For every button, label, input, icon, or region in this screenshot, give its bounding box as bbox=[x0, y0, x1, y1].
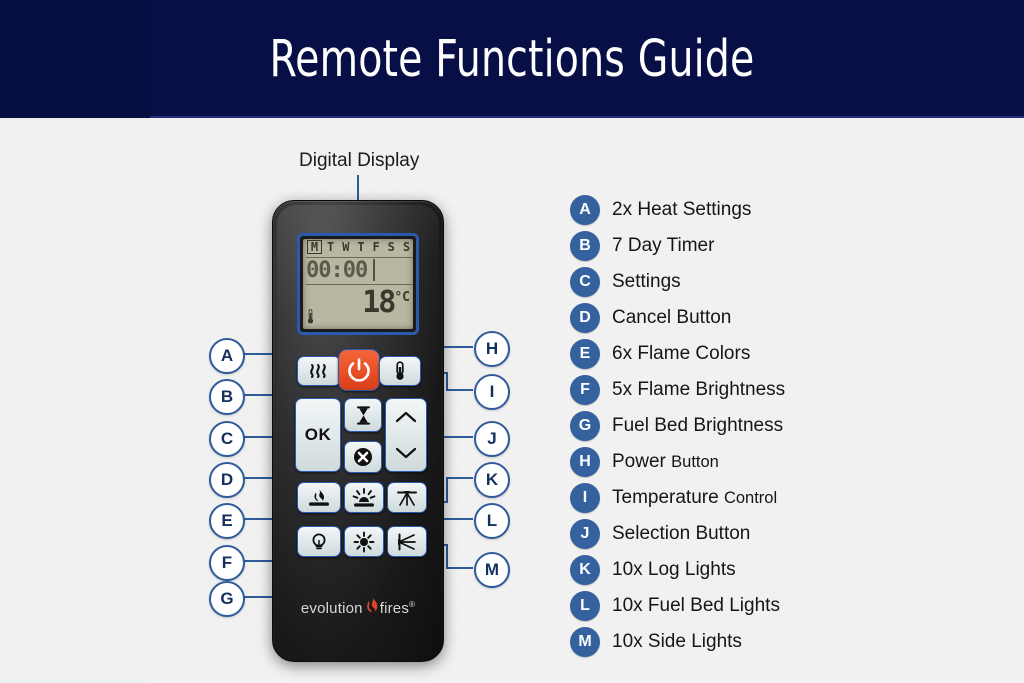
registered-mark: ® bbox=[409, 600, 415, 609]
legend-label-h-sub: Button bbox=[671, 453, 719, 471]
callout-b[interactable]: B bbox=[209, 379, 245, 415]
brand-name-primary: evolution bbox=[301, 600, 363, 617]
lcd-day-sun: S bbox=[400, 240, 413, 254]
fuel-bed-lights-button[interactable] bbox=[344, 526, 384, 557]
legend-badge-m: M bbox=[570, 627, 600, 657]
brand-name-secondary: fires bbox=[380, 600, 409, 617]
lcd-temperature-block: 18°C bbox=[362, 285, 410, 320]
flame-log-icon bbox=[307, 488, 331, 507]
legend-label-b-main: 7 Day Timer bbox=[612, 235, 714, 256]
legend-item-g[interactable]: G Fuel Bed Brightness bbox=[570, 408, 990, 444]
sunburst-icon bbox=[352, 488, 376, 508]
legend-item-k[interactable]: K 10x Log Lights bbox=[570, 552, 990, 588]
legend-item-l[interactable]: L 10x Fuel Bed Lights bbox=[570, 588, 990, 624]
callout-j[interactable]: J bbox=[474, 421, 510, 457]
legend-item-m[interactable]: M 10x Side Lights bbox=[570, 624, 990, 660]
legend-label-h: Power Button bbox=[612, 451, 719, 473]
lcd-day-fri: F bbox=[370, 240, 383, 254]
legend-label-g: Fuel Bed Brightness bbox=[612, 415, 783, 437]
side-lights-button[interactable] bbox=[387, 526, 427, 557]
left-margin-band bbox=[0, 118, 150, 683]
hourglass-icon bbox=[356, 406, 371, 425]
legend-label-a: 2x Heat Settings bbox=[612, 199, 751, 221]
lcd-day-tue: T bbox=[324, 240, 337, 254]
legend-item-c[interactable]: C Settings bbox=[570, 264, 990, 300]
legend-label-k: 10x Log Lights bbox=[612, 559, 736, 581]
callout-g[interactable]: G bbox=[209, 581, 245, 617]
legend-label-a-main: 2x Heat Settings bbox=[612, 199, 751, 220]
callout-a[interactable]: A bbox=[209, 338, 245, 374]
legend-list: A 2x Heat Settings B 7 Day Timer C Setti… bbox=[570, 192, 990, 660]
callout-f[interactable]: F bbox=[209, 545, 245, 581]
legend-label-f: 5x Flame Brightness bbox=[612, 379, 785, 401]
legend-badge-k: K bbox=[570, 555, 600, 585]
lcd-temperature-value: 18 bbox=[362, 285, 394, 320]
lcd-day-thu: T bbox=[354, 240, 367, 254]
callout-c[interactable]: C bbox=[209, 421, 245, 457]
page-header: Remote Functions Guide bbox=[0, 0, 1024, 118]
side-light-icon bbox=[395, 532, 419, 552]
legend-badge-d: D bbox=[570, 303, 600, 333]
lcd-day-wed: W bbox=[339, 240, 352, 254]
lcd-weekday-row: M T W T F S S bbox=[307, 240, 413, 254]
legend-label-e: 6x Flame Colors bbox=[612, 343, 750, 365]
legend-label-m-main: 10x Side Lights bbox=[612, 631, 742, 652]
power-button[interactable] bbox=[338, 349, 380, 391]
lcd-temperature-unit: °C bbox=[394, 290, 410, 305]
callout-m[interactable]: M bbox=[474, 552, 510, 588]
log-lights-button[interactable] bbox=[387, 482, 427, 513]
legend-item-e[interactable]: E 6x Flame Colors bbox=[570, 336, 990, 372]
legend-badge-f: F bbox=[570, 375, 600, 405]
legend-label-d: Cancel Button bbox=[612, 307, 731, 329]
cancel-button[interactable] bbox=[344, 441, 382, 473]
legend-item-i[interactable]: I Temperature Control bbox=[570, 480, 990, 516]
power-icon bbox=[348, 358, 370, 382]
legend-item-j[interactable]: J Selection Button bbox=[570, 516, 990, 552]
legend-badge-b: B bbox=[570, 231, 600, 261]
callout-d[interactable]: D bbox=[209, 462, 245, 498]
ok-settings-button[interactable]: OK bbox=[295, 398, 341, 472]
legend-label-c-main: Settings bbox=[612, 271, 681, 292]
flame-brightness-button[interactable] bbox=[297, 526, 341, 557]
lcd-day-sat: S bbox=[385, 240, 398, 254]
legend-badge-j: J bbox=[570, 519, 600, 549]
legend-badge-i: I bbox=[570, 483, 600, 513]
downlight-icon bbox=[395, 488, 419, 508]
legend-badge-g: G bbox=[570, 411, 600, 441]
digital-display-screen: M T W T F S S 00:00 18°C bbox=[297, 233, 419, 335]
cancel-x-icon bbox=[353, 447, 373, 467]
legend-label-g-main: Fuel Bed Brightness bbox=[612, 415, 783, 436]
legend-label-m: 10x Side Lights bbox=[612, 631, 742, 653]
callout-e[interactable]: E bbox=[209, 503, 245, 539]
legend-badge-c: C bbox=[570, 267, 600, 297]
lcd-day-mon: M bbox=[307, 240, 322, 254]
flame-logo-icon bbox=[364, 596, 379, 619]
legend-label-i-sub: Control bbox=[724, 489, 777, 507]
chevron-down-icon bbox=[395, 447, 417, 459]
legend-label-d-main: Cancel Button bbox=[612, 307, 731, 328]
thermometer-icon bbox=[393, 361, 407, 381]
legend-item-f[interactable]: F 5x Flame Brightness bbox=[570, 372, 990, 408]
legend-badge-e: E bbox=[570, 339, 600, 369]
selection-button[interactable] bbox=[385, 398, 427, 472]
legend-label-i: Temperature Control bbox=[612, 487, 777, 509]
lcd-vertical-divider bbox=[373, 259, 375, 281]
legend-label-i-main: Temperature bbox=[612, 487, 724, 508]
legend-badge-a: A bbox=[570, 195, 600, 225]
legend-label-k-main: 10x Log Lights bbox=[612, 559, 736, 580]
fuel-bed-brightness-button[interactable] bbox=[344, 482, 384, 513]
sun-dot-icon bbox=[353, 531, 375, 553]
legend-badge-l: L bbox=[570, 591, 600, 621]
lcd-time-value: 00:00 bbox=[306, 258, 367, 283]
heat-waves-icon bbox=[307, 363, 331, 379]
heat-settings-button[interactable] bbox=[297, 356, 341, 386]
legend-item-a[interactable]: A 2x Heat Settings bbox=[570, 192, 990, 228]
legend-item-h[interactable]: H Power Button bbox=[570, 444, 990, 480]
legend-label-c: Settings bbox=[612, 271, 681, 293]
callout-i[interactable]: I bbox=[474, 374, 510, 410]
legend-label-l-main: 10x Fuel Bed Lights bbox=[612, 595, 780, 616]
bulb-icon bbox=[309, 532, 329, 552]
legend-label-b: 7 Day Timer bbox=[612, 235, 714, 257]
ok-button-label: OK bbox=[305, 425, 332, 445]
digital-display-label: Digital Display bbox=[299, 150, 419, 172]
flame-colors-button[interactable] bbox=[297, 482, 341, 513]
legend-label-j-main: Selection Button bbox=[612, 523, 750, 544]
callout-k[interactable]: K bbox=[474, 462, 510, 498]
legend-label-f-main: 5x Flame Brightness bbox=[612, 379, 785, 400]
legend-item-d[interactable]: D Cancel Button bbox=[570, 300, 990, 336]
lcd-thermometer-icon bbox=[307, 308, 314, 325]
timer-button[interactable] bbox=[344, 398, 382, 432]
remote-control-device: M T W T F S S 00:00 18°C bbox=[272, 200, 444, 662]
legend-label-j: Selection Button bbox=[612, 523, 750, 545]
legend-item-b[interactable]: B 7 Day Timer bbox=[570, 228, 990, 264]
brand-logo: evolution fires® bbox=[273, 596, 443, 619]
legend-label-e-main: 6x Flame Colors bbox=[612, 343, 750, 364]
legend-label-l: 10x Fuel Bed Lights bbox=[612, 595, 780, 617]
legend-badge-h: H bbox=[570, 447, 600, 477]
callout-h[interactable]: H bbox=[474, 331, 510, 367]
page-title: Remote Functions Guide bbox=[72, 0, 953, 118]
callout-l[interactable]: L bbox=[474, 503, 510, 539]
temperature-control-button[interactable] bbox=[379, 356, 421, 386]
chevron-up-icon bbox=[395, 411, 417, 423]
legend-label-h-main: Power bbox=[612, 451, 671, 472]
